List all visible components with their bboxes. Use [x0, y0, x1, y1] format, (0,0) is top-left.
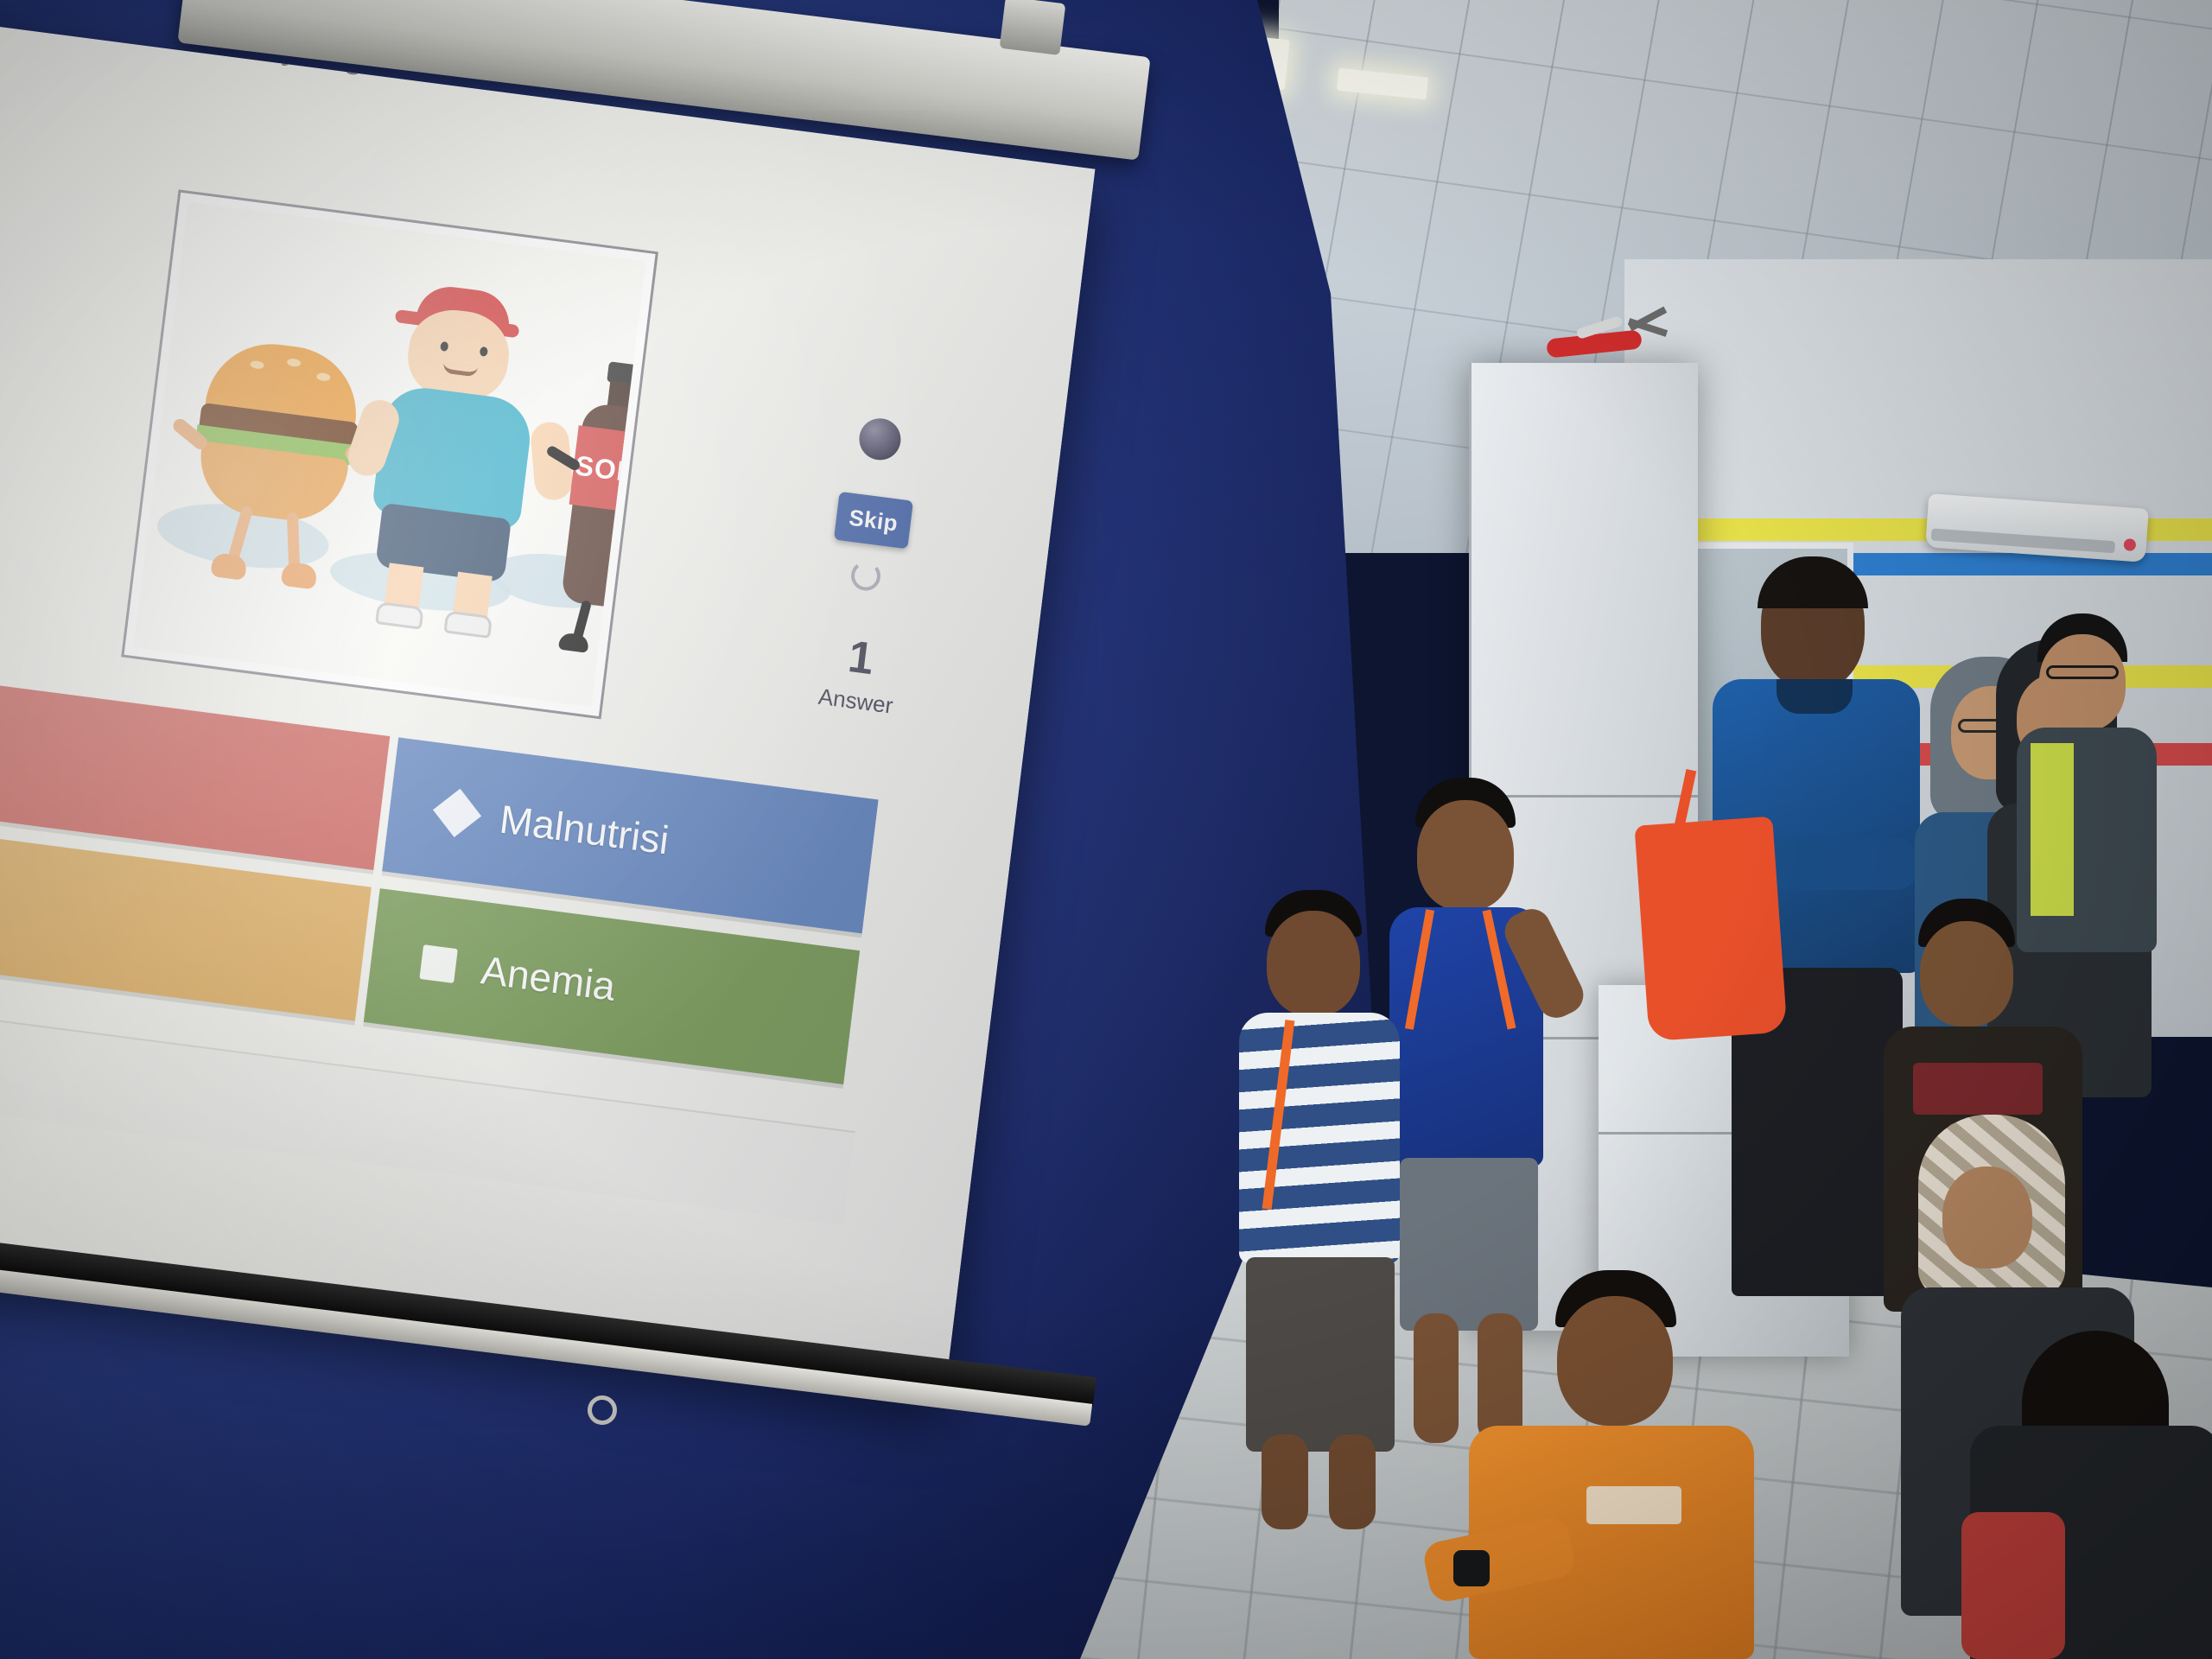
- safety-vest: [2031, 743, 2074, 916]
- toy-plane-icon: [1538, 315, 1676, 369]
- soda-label-text: SODA: [569, 425, 646, 515]
- square-icon: [419, 944, 458, 983]
- soda-label: SODA: [569, 425, 646, 515]
- glasses-icon: [2046, 665, 2119, 679]
- leg: [1329, 1434, 1376, 1529]
- hair: [1758, 556, 1868, 608]
- face: [2039, 634, 2126, 731]
- shirt-logo: [1586, 1486, 1681, 1524]
- kahoot-quiz-view: ...da seseorang itu jika mengalami berat…: [0, 0, 1095, 1395]
- answer-count-number: 1: [794, 627, 928, 689]
- answer-label: Malnutrisi: [497, 796, 671, 864]
- head: [1267, 911, 1360, 1016]
- burger-character-icon: [184, 335, 370, 541]
- answer-count-label: Answer: [790, 680, 922, 723]
- classroom-scene: ...da seseorang itu jika mengalami berat…: [0, 0, 2212, 1659]
- boy-orange-shirt: [1417, 1270, 1780, 1659]
- head: [1557, 1296, 1673, 1426]
- screen-housing-end-cap: [1000, 0, 1066, 55]
- burger-leg: [287, 512, 300, 569]
- shorts: [1246, 1257, 1395, 1452]
- polo-collar: [1777, 679, 1853, 714]
- face: [1942, 1166, 2032, 1268]
- hair: [2022, 1331, 2169, 1434]
- answer-counter: 1 Answer: [790, 627, 928, 723]
- reload-icon[interactable]: [849, 559, 882, 592]
- tee-graphic: [1913, 1063, 2043, 1115]
- head: [1920, 921, 2013, 1027]
- projection-screen-assembly: ...da seseorang itu jika mengalami berat…: [0, 0, 1210, 1659]
- projection-screen-surface: ...da seseorang itu jika mengalami berat…: [0, 0, 1095, 1395]
- child-foreground: [1970, 1331, 2212, 1659]
- soda-shoe: [603, 638, 634, 658]
- aircon-led-icon: [2123, 538, 2136, 551]
- screen-pull-ring[interactable]: [586, 1394, 619, 1427]
- question-media-card: SODA: [121, 189, 658, 719]
- timer-icon[interactable]: [857, 416, 903, 462]
- torso-striped: [1239, 1013, 1400, 1263]
- wristwatch-icon: [1453, 1550, 1490, 1586]
- soda-shoe: [558, 632, 589, 653]
- diamond-icon: [433, 789, 481, 837]
- soda-leg: [610, 604, 620, 644]
- tote-bag: [1634, 817, 1787, 1042]
- question-media-image: SODA: [134, 202, 646, 707]
- boy-striped-shirt: [1236, 890, 1434, 1529]
- skip-button[interactable]: Skip: [834, 492, 913, 550]
- answer-label: Anemia: [479, 946, 618, 1010]
- leg: [1262, 1434, 1308, 1529]
- red-sleeve: [1961, 1512, 2065, 1659]
